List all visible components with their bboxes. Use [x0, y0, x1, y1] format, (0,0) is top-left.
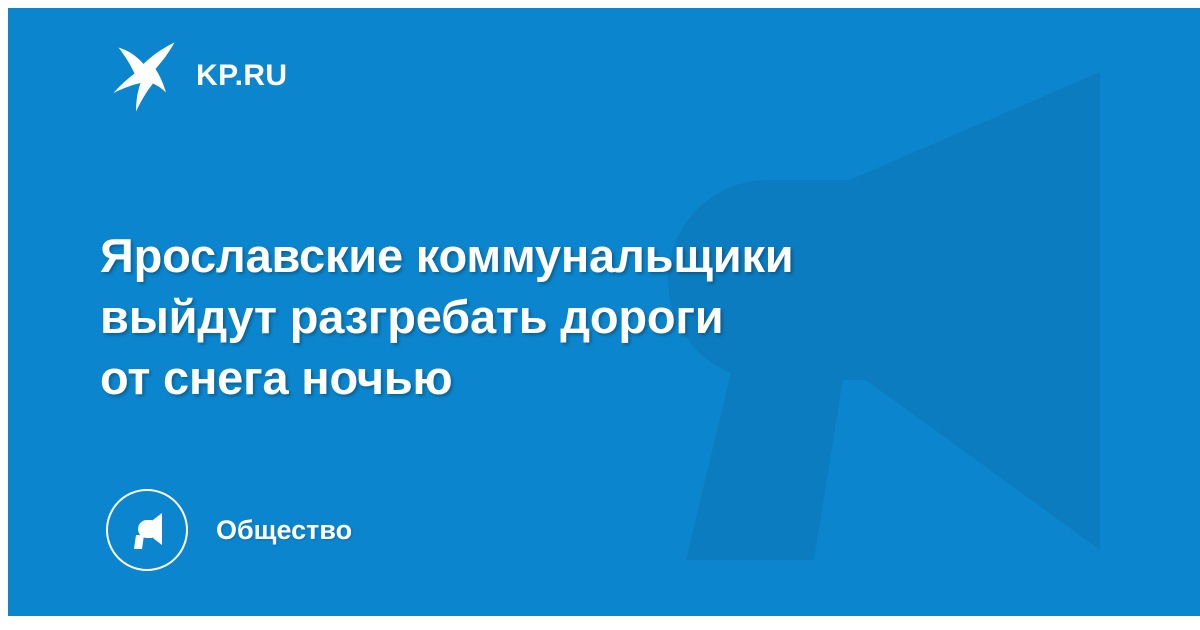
- megaphone-icon: [106, 489, 188, 571]
- page-title: Ярославские коммунальщики выйдут разгреб…: [100, 225, 1000, 408]
- headline-line: от снега ночью: [100, 347, 1000, 408]
- headline-line: выйдут разгребать дороги: [100, 286, 1000, 347]
- category-label: Общество: [216, 517, 352, 544]
- headline-line: Ярославские коммунальщики: [100, 225, 1000, 286]
- swallow-bird-icon: [112, 40, 178, 112]
- category-badge[interactable]: Общество: [106, 489, 352, 571]
- brand-name: KP.RU: [196, 61, 287, 91]
- article-share-card: KP.RU Ярославские коммунальщики выйдут р…: [8, 8, 1200, 616]
- brand-logo[interactable]: KP.RU: [112, 40, 287, 112]
